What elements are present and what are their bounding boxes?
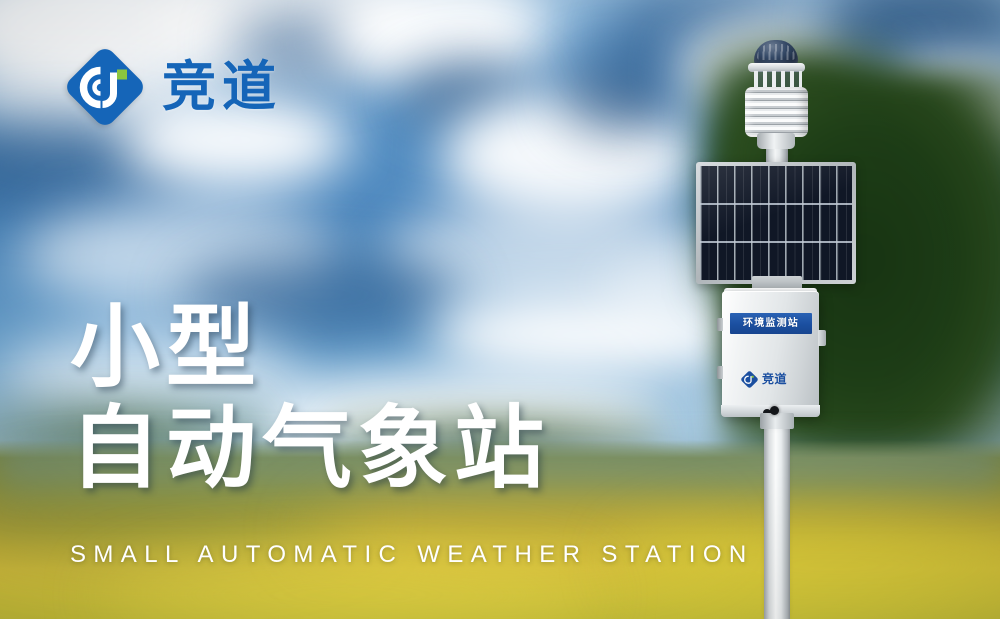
solar-busbar-icon <box>700 203 852 205</box>
pole-joint-icon <box>760 413 794 429</box>
control-box-brand: 竞道 <box>741 369 803 389</box>
solar-panel-icon <box>696 162 856 284</box>
sensor-support-posts-icon <box>751 71 802 88</box>
product-banner: 环境监测站 竞道 竞 <box>0 0 1000 619</box>
brand-name-text: 竞道 <box>162 60 282 114</box>
logo-glyph-icon <box>66 48 144 126</box>
control-box-latch-icon <box>717 318 723 331</box>
headline-line-2: 自动气象站 <box>70 399 550 500</box>
control-box-hinge-icon <box>818 330 826 346</box>
mounting-pole-lower-icon <box>764 420 790 619</box>
sensor-base-icon <box>757 133 795 149</box>
brand-logo[interactable]: 竞道 <box>66 48 282 126</box>
control-box-latch-icon <box>717 366 723 379</box>
jingdao-diamond-logo-icon <box>66 48 144 126</box>
pole-bolt-icon <box>770 406 779 415</box>
sensor-dome-detail-icon <box>757 44 795 60</box>
radiation-shield-icon <box>745 87 808 137</box>
control-box <box>722 291 819 416</box>
solar-busbar-icon <box>700 241 852 243</box>
subtitle-text: SMALL AUTOMATIC WEATHER STATION <box>70 543 754 567</box>
control-box-label-banner: 环境监测站 <box>730 313 812 334</box>
headline: 小型 自动气象站 <box>70 298 550 500</box>
control-box-brand-text: 竞道 <box>762 373 787 385</box>
solar-cells-icon <box>700 166 852 280</box>
jingdao-diamond-logo-icon <box>741 371 758 388</box>
headline-line-1: 小型 <box>70 298 550 399</box>
control-box-label-text: 环境监测站 <box>743 319 799 329</box>
